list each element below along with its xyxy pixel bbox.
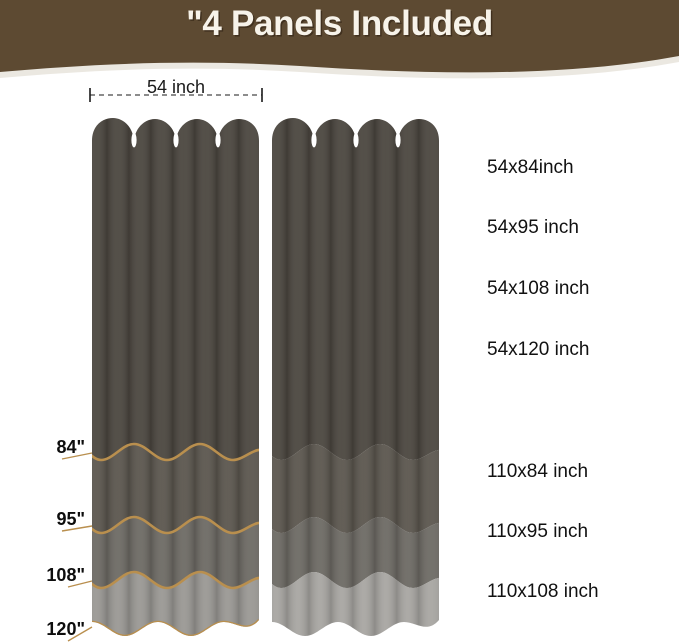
curtain-panel-left <box>85 110 268 643</box>
dimension-width-label: 54 inch <box>90 77 262 98</box>
size-option-54x84: 54x84inch <box>487 157 574 179</box>
page-title: "4 Panels Included <box>0 4 679 44</box>
size-option-110x108: 110x108 inch <box>487 581 599 603</box>
size-option-54x120: 54x120 inch <box>487 339 589 361</box>
measurement-label-84: 84" <box>10 437 85 458</box>
measurement-label-120: 120" <box>2 619 85 640</box>
measurement-label-108: 108" <box>2 565 85 586</box>
size-option-110x84: 110x84 inch <box>487 461 588 483</box>
curtain-left-pleat-shading <box>85 110 268 643</box>
measurement-leader-lines <box>62 453 92 641</box>
size-option-54x95: 54x95 inch <box>487 217 579 239</box>
measurement-label-95: 95" <box>10 509 85 530</box>
curtain-panel-right <box>265 110 448 643</box>
size-option-54x108: 54x108 inch <box>487 278 589 300</box>
size-option-110x95: 110x95 inch <box>487 521 588 543</box>
curtain-right-pleat-shading <box>265 110 448 643</box>
